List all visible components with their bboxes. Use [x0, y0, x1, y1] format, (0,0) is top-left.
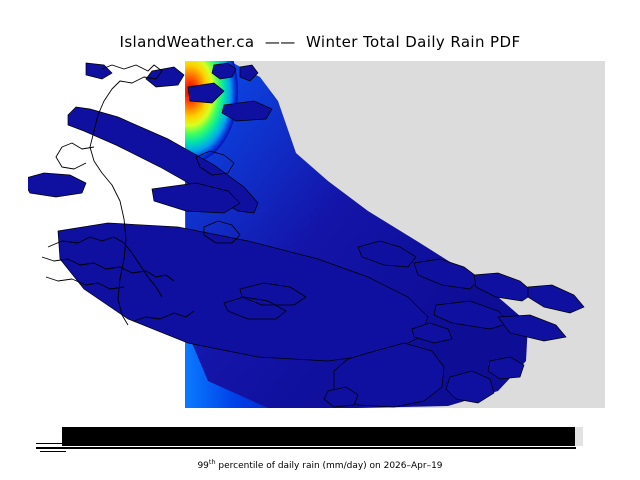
island-north-c	[86, 63, 112, 79]
colorbar-axis-line	[36, 447, 576, 449]
caption-percentile: 99	[197, 461, 208, 471]
screenshot-root: IslandWeather.ca —— Winter Total Daily R…	[0, 0, 640, 480]
map-panel	[28, 61, 605, 408]
caption-text: percentile of daily rain (mm/day) on	[216, 461, 384, 471]
caption-date: 2026–Apr–19	[384, 461, 443, 471]
colorbar-gradient	[62, 427, 575, 446]
figure-caption: 99th percentile of daily rain (mm/day) o…	[0, 458, 640, 471]
colorbar-axis-tick-left-upper	[36, 443, 64, 444]
island-mid-small	[28, 173, 86, 197]
colorbar-axis-tick-left-lower	[40, 451, 66, 452]
colorbar	[62, 427, 575, 446]
map-figure	[28, 61, 605, 408]
page-title: IslandWeather.ca —— Winter Total Daily R…	[0, 33, 640, 51]
colorbar-endcap	[575, 427, 583, 446]
caption-percentile-suffix: th	[209, 458, 216, 466]
coastline-inlet-a	[56, 143, 94, 169]
island-cluster-ne	[146, 67, 184, 87]
